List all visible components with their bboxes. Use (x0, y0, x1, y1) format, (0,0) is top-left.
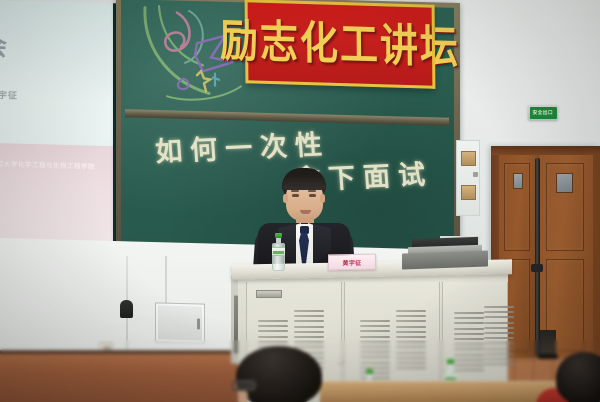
bottle-label (272, 247, 285, 256)
door-window-left (513, 173, 523, 189)
speaker-hairline (283, 175, 326, 190)
audience-head-left (236, 346, 322, 402)
cabinet-vent-5 (454, 312, 484, 374)
door-leaf-right[interactable] (539, 155, 593, 358)
door-handle[interactable] (531, 264, 543, 272)
blackboard-mid-frame (125, 109, 449, 125)
speaker-ear-right (320, 194, 325, 203)
screen-text-small: 黄宇征 (0, 88, 18, 102)
switch-button-lower[interactable] (461, 185, 476, 200)
desk-equipment-base (402, 250, 488, 269)
water-bottle-podium[interactable] (272, 233, 285, 271)
speaker-eye-right (309, 194, 316, 197)
cabinet-vent-6 (484, 306, 514, 368)
distant-person-legs (540, 330, 556, 356)
podium-name-card: 黄宇征 (328, 254, 376, 271)
audience-head-right (556, 352, 600, 402)
speaker-eyebrow-right (308, 190, 316, 192)
door-window-right (556, 173, 573, 193)
emergency-exit-sign: 安全出口 (528, 105, 558, 120)
exit-sign-text: 安全出口 (533, 109, 554, 116)
door-push-bar[interactable] (535, 158, 540, 356)
door-header (491, 146, 600, 155)
speaker-eyebrow-left (291, 190, 299, 192)
name-card-text: 黄宇征 (343, 257, 362, 266)
exit-sign-face: 安全出口 (530, 107, 557, 119)
cabinet-lock[interactable] (337, 358, 344, 365)
eyeglasses-icon (232, 380, 256, 391)
cabinet-asset-tag (256, 290, 282, 298)
speaker-eye-left (292, 194, 299, 197)
wall-access-panel (155, 302, 205, 343)
cabinet-vent-4 (396, 310, 426, 372)
screen-text-large: 会 (0, 36, 8, 59)
bottle-body (272, 243, 285, 271)
speaker-ear-left (283, 194, 288, 203)
wall-switch-panel[interactable] (456, 140, 480, 216)
speaker-box (120, 300, 133, 318)
projection-screen: 会 黄宇征 浙江大学化学工程与生物工程学院 (0, 0, 116, 253)
audience-ear (238, 390, 248, 402)
screen-slide-top (0, 0, 113, 146)
red-banner: 励志化工讲坛 (246, 0, 435, 89)
banner-text: 励志化工讲坛 (220, 18, 460, 70)
lecture-hall-photo: 会 黄宇征 浙江大学化学工程与生物工程学院 如何一次性 (0, 0, 600, 402)
speaker-tie-knot (300, 226, 309, 234)
panel-indicator (473, 172, 478, 177)
wall-cable-2 (165, 256, 167, 304)
distant-person-shoes (538, 354, 558, 359)
switch-button-upper[interactable] (461, 151, 476, 166)
